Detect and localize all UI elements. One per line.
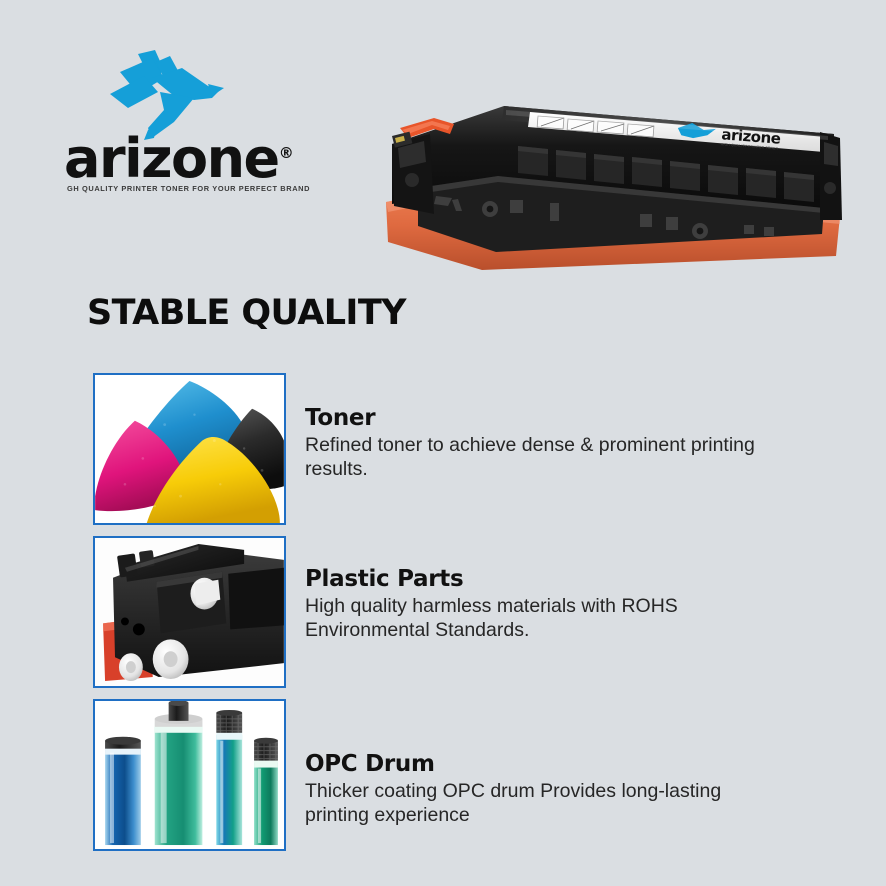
feature-title: Toner bbox=[305, 405, 825, 431]
feature-title: OPC Drum bbox=[305, 751, 825, 777]
feature-description: Refined toner to achieve dense & promine… bbox=[305, 434, 775, 482]
section-title: STABLE QUALITY bbox=[87, 296, 406, 331]
brand-logo: arizone® GH QUALITY PRINTER TONER FOR YO… bbox=[64, 48, 284, 196]
feature-description: High quality harmless materials with ROH… bbox=[305, 595, 775, 643]
feature-description: Thicker coating OPC drum Provides long-l… bbox=[305, 780, 775, 828]
feature-title: Plastic Parts bbox=[305, 566, 825, 592]
cmyk-toner-powder-photo bbox=[93, 373, 286, 525]
feature-item-plastic-parts: Plastic Parts High quality harmless mate… bbox=[0, 536, 886, 699]
feature-list: Toner Refined toner to achieve dense & p… bbox=[0, 373, 886, 862]
feature-item-toner: Toner Refined toner to achieve dense & p… bbox=[0, 373, 886, 536]
feature-text-plastic-parts: Plastic Parts High quality harmless mate… bbox=[305, 566, 825, 643]
plastic-parts-photo bbox=[93, 536, 286, 688]
brand-tagline: GH QUALITY PRINTER TONER FOR YOUR PERFEC… bbox=[67, 184, 297, 193]
registered-mark: ® bbox=[279, 144, 294, 162]
opc-drum-photo bbox=[93, 699, 286, 851]
toner-cartridge-photo: arizone HIGH QUALITY PRINTER TONER bbox=[378, 84, 848, 280]
wordmark-text: arizone bbox=[64, 127, 279, 190]
header-banner: arizone® GH QUALITY PRINTER TONER FOR YO… bbox=[0, 0, 886, 285]
feature-text-toner: Toner Refined toner to achieve dense & p… bbox=[305, 405, 825, 482]
brand-wordmark: arizone® bbox=[64, 132, 284, 186]
feature-item-opc-drum: OPC Drum Thicker coating OPC drum Provid… bbox=[0, 699, 886, 862]
feature-text-opc-drum: OPC Drum Thicker coating OPC drum Provid… bbox=[305, 751, 825, 828]
